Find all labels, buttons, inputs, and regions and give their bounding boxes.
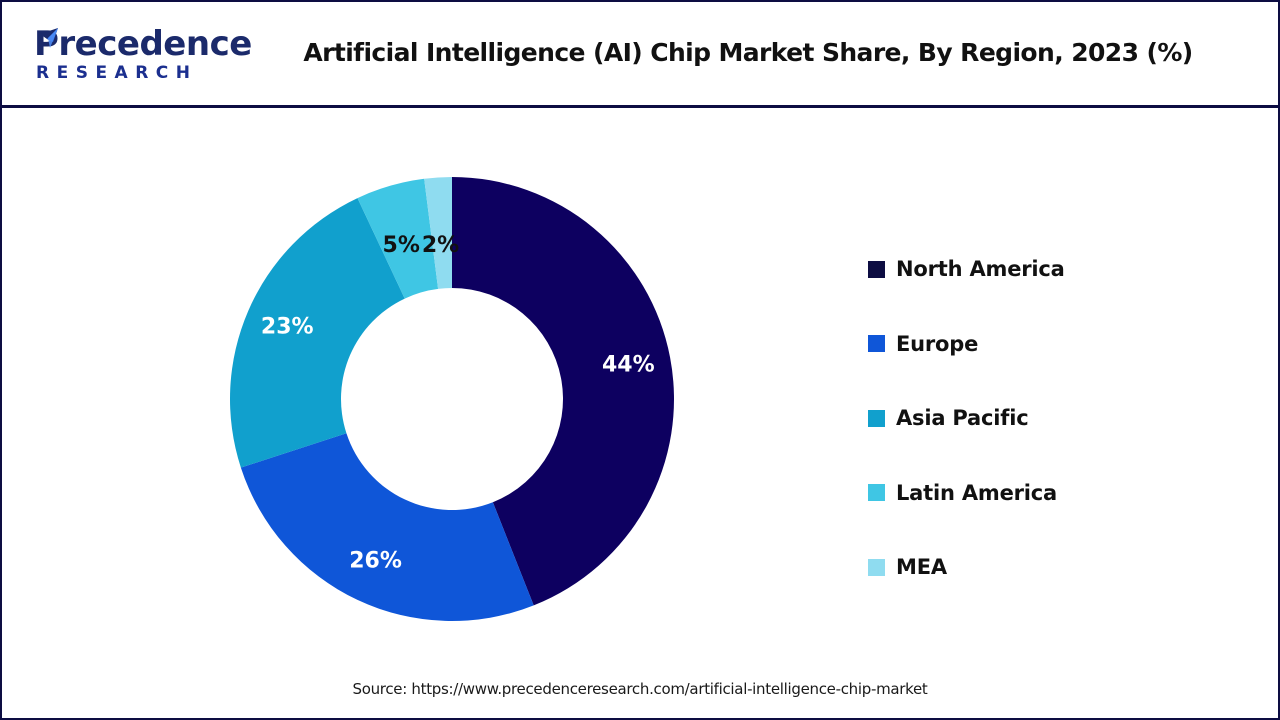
legend-label: Latin America [896, 481, 1057, 505]
precedence-research-logo: Precedence RESEARCH [16, 24, 236, 90]
legend-item[interactable]: Latin America [868, 456, 1198, 531]
legend-swatch-icon [868, 335, 885, 352]
legend-swatch-icon [868, 410, 885, 427]
legend-swatch-icon [868, 484, 885, 501]
slice-value-label: 23% [261, 315, 314, 340]
legend-swatch-icon [868, 261, 885, 278]
donut-chart-svg: 44%26%23%5%2% [230, 174, 674, 624]
leaf-arrow-mark-icon [38, 26, 72, 60]
header-bar: Precedence RESEARCH Artificial Intellige… [2, 2, 1278, 108]
chart-page: Precedence RESEARCH Artificial Intellige… [0, 0, 1280, 720]
legend-item[interactable]: North America [868, 232, 1198, 307]
legend-swatch-icon [868, 559, 885, 576]
legend-item[interactable]: MEA [868, 530, 1198, 605]
legend-label: North America [896, 257, 1065, 281]
legend-label: Asia Pacific [896, 406, 1028, 430]
donut-chart: 44%26%23%5%2% [230, 174, 674, 624]
donut-slice[interactable] [241, 433, 534, 621]
slice-value-label: 26% [349, 548, 402, 573]
logo-subtext: RESEARCH [36, 63, 198, 83]
legend-label: MEA [896, 555, 947, 579]
source-caption: Source: https://www.precedenceresearch.c… [2, 680, 1278, 698]
slice-value-label: 44% [602, 352, 655, 377]
chart-legend: North AmericaEuropeAsia PacificLatin Ame… [868, 232, 1198, 605]
slice-value-label: 2% [422, 233, 459, 258]
legend-item[interactable]: Europe [868, 307, 1198, 382]
page-title: Artificial Intelligence (AI) Chip Market… [238, 38, 1258, 67]
legend-item[interactable]: Asia Pacific [868, 381, 1198, 456]
slice-value-label: 5% [383, 233, 420, 258]
legend-label: Europe [896, 332, 978, 356]
